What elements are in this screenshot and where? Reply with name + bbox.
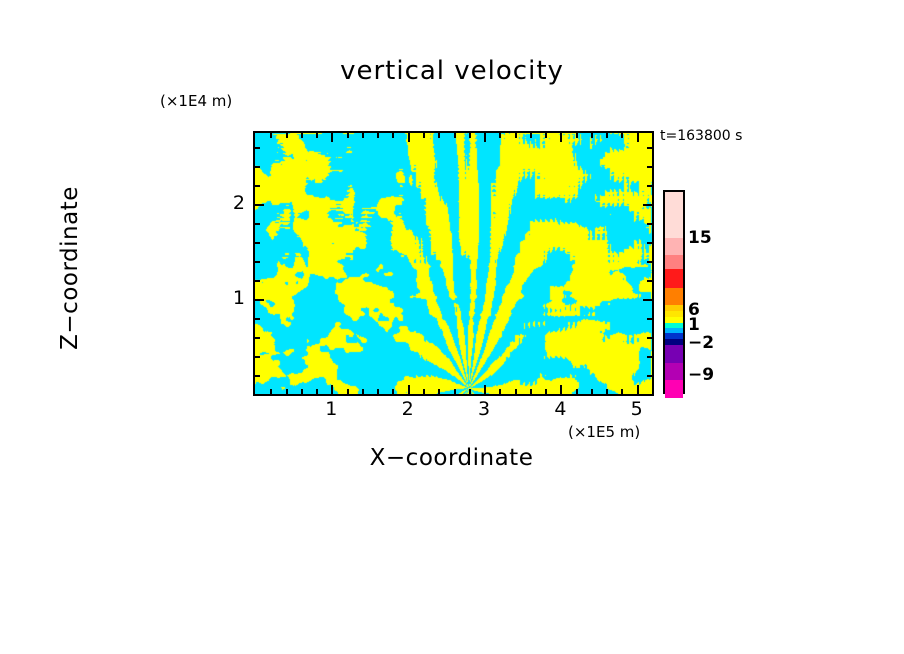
x-tick <box>637 385 639 394</box>
x-tick <box>438 389 440 394</box>
x-tick <box>515 389 517 394</box>
velocity-field-canvas <box>255 133 652 394</box>
y-tick <box>255 147 260 149</box>
x-tick-top <box>454 133 456 138</box>
x-tick-top <box>560 133 562 142</box>
x-tick-top <box>316 133 318 138</box>
colorbar-band <box>665 288 683 305</box>
colorbar-band <box>665 363 683 380</box>
colorbar-band <box>665 345 683 363</box>
y-tick-right <box>647 261 652 263</box>
x-tick <box>347 389 349 394</box>
colorbar-tick-label: 15 <box>688 228 712 248</box>
x-tick <box>362 389 364 394</box>
y-tick <box>255 204 264 206</box>
x-tick-top <box>270 133 272 138</box>
x-tick-top <box>469 133 471 138</box>
x-tick <box>606 389 608 394</box>
x-tick <box>560 385 562 394</box>
x-tick <box>621 389 623 394</box>
x-tick <box>301 389 303 394</box>
x-tick-label: 5 <box>622 398 652 420</box>
x-tick-top <box>484 133 486 142</box>
colorbar <box>663 190 685 394</box>
y-tick-label: 1 <box>215 287 245 309</box>
x-tick-top <box>499 133 501 138</box>
x-tick <box>270 389 272 394</box>
y-tick <box>255 337 260 339</box>
x-tick <box>576 389 578 394</box>
x-axis-title: X−coordinate <box>253 445 650 471</box>
y-tick <box>255 356 260 358</box>
contour-plot-area <box>253 131 654 396</box>
x-tick-top <box>545 133 547 138</box>
y-tick-right <box>647 318 652 320</box>
x-tick <box>591 389 593 394</box>
y-tick <box>255 280 260 282</box>
x-tick <box>408 385 410 394</box>
y-tick-right <box>647 242 652 244</box>
y-tick <box>255 242 260 244</box>
y-tick <box>255 375 260 377</box>
y-tick-right <box>647 356 652 358</box>
y-tick-right <box>647 375 652 377</box>
x-tick-top <box>438 133 440 138</box>
time-annotation: t=163800 s <box>660 128 742 144</box>
colorbar-band <box>665 192 683 238</box>
x-tick <box>545 389 547 394</box>
y-tick-right <box>643 299 652 301</box>
y-tick <box>255 185 260 187</box>
x-tick-label: 1 <box>316 398 346 420</box>
colorbar-band <box>665 238 683 255</box>
y-tick-right <box>647 337 652 339</box>
x-tick-top <box>377 133 379 138</box>
y-tick <box>255 166 260 168</box>
y-tick-label: 2 <box>215 192 245 214</box>
y-tick <box>255 223 260 225</box>
x-tick-label: 4 <box>545 398 575 420</box>
x-tick-top <box>301 133 303 138</box>
y-tick-right <box>643 204 652 206</box>
x-tick <box>499 389 501 394</box>
x-tick-top <box>576 133 578 138</box>
colorbar-tick-label: −9 <box>688 365 714 385</box>
x-tick-top <box>621 133 623 138</box>
x-tick-top <box>530 133 532 138</box>
colorbar-tick-label: −2 <box>688 333 714 353</box>
x-tick-top <box>423 133 425 138</box>
x-tick-top <box>392 133 394 138</box>
colorbar-tick-label: 1 <box>688 315 700 335</box>
page-title: vertical velocity <box>0 56 904 86</box>
x-tick-top <box>591 133 593 138</box>
x-tick <box>454 389 456 394</box>
colorbar-band <box>665 269 683 288</box>
x-tick <box>484 385 486 394</box>
x-tick-top <box>637 133 639 142</box>
y-tick <box>255 261 260 263</box>
x-tick-top <box>347 133 349 138</box>
y-tick-right <box>647 223 652 225</box>
x-tick <box>286 389 288 394</box>
y-axis-title: Z−coordinate <box>57 138 83 398</box>
y-tick <box>255 299 264 301</box>
colorbar-band <box>665 380 683 398</box>
x-tick-label: 3 <box>469 398 499 420</box>
y-tick-right <box>647 147 652 149</box>
y-tick-right <box>647 166 652 168</box>
x-tick-top <box>286 133 288 138</box>
colorbar-band <box>665 255 683 269</box>
x-tick-label: 2 <box>393 398 423 420</box>
x-tick <box>392 389 394 394</box>
x-tick-top <box>331 133 333 142</box>
x-tick <box>423 389 425 394</box>
x-tick <box>469 389 471 394</box>
x-tick <box>530 389 532 394</box>
x-tick-top <box>515 133 517 138</box>
x-tick <box>331 385 333 394</box>
x-tick-top <box>408 133 410 142</box>
z-axis-units-label: (×1E4 m) <box>160 92 232 110</box>
y-tick <box>255 318 260 320</box>
x-tick <box>377 389 379 394</box>
x-tick-top <box>606 133 608 138</box>
x-tick <box>316 389 318 394</box>
y-tick-right <box>647 280 652 282</box>
x-axis-units-label: (×1E5 m) <box>568 423 640 441</box>
y-tick-right <box>647 185 652 187</box>
x-tick-top <box>362 133 364 138</box>
